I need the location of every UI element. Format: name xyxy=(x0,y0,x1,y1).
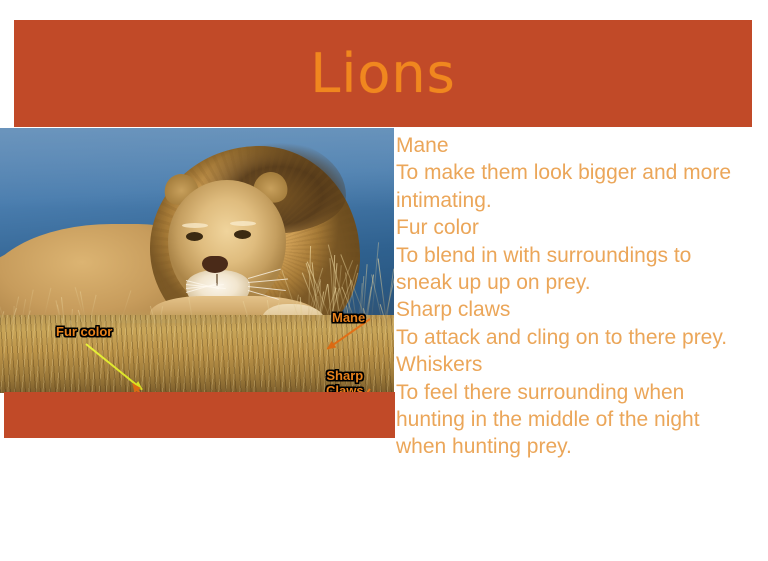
annotation-fur-color: Fur color xyxy=(56,324,112,339)
annotation-sharp-claws: Sharp Claws xyxy=(326,368,364,393)
presentation-slide: Lions Fur col xyxy=(0,0,768,561)
page-title: Lions xyxy=(14,20,752,127)
body-text-line: Whiskers xyxy=(396,351,756,378)
body-text-line: Sharp claws xyxy=(396,296,756,323)
accent-block-below-photo xyxy=(4,392,395,438)
body-text-line: hunting in the middle of the night xyxy=(396,406,756,433)
body-text-line: when hunting prey. xyxy=(396,433,756,460)
body-text-line: To make them look bigger and more xyxy=(396,159,756,186)
title-banner: Lions xyxy=(14,20,752,127)
annotation-mane: Mane xyxy=(332,310,365,325)
lion-eye-left xyxy=(186,232,203,241)
body-text-line: To attack and cling on to there prey. xyxy=(396,324,756,351)
body-text-line: To feel there surrounding when xyxy=(396,379,756,406)
body-text-line: Mane xyxy=(396,132,756,159)
body-text-line: sneak up up on prey. xyxy=(396,269,756,296)
body-text-line: Fur color xyxy=(396,214,756,241)
body-text-line: intimating. xyxy=(396,187,756,214)
body-text-line: To blend in with surroundings to xyxy=(396,242,756,269)
body-text-panel: ManeTo make them look bigger and moreint… xyxy=(396,132,756,461)
lion-brow-right xyxy=(230,221,256,226)
lion-photo: Fur color Mane Sharp Claws Wiskers xyxy=(0,128,394,393)
lion-eye-right xyxy=(234,230,251,239)
lion-brow-left xyxy=(182,223,208,228)
